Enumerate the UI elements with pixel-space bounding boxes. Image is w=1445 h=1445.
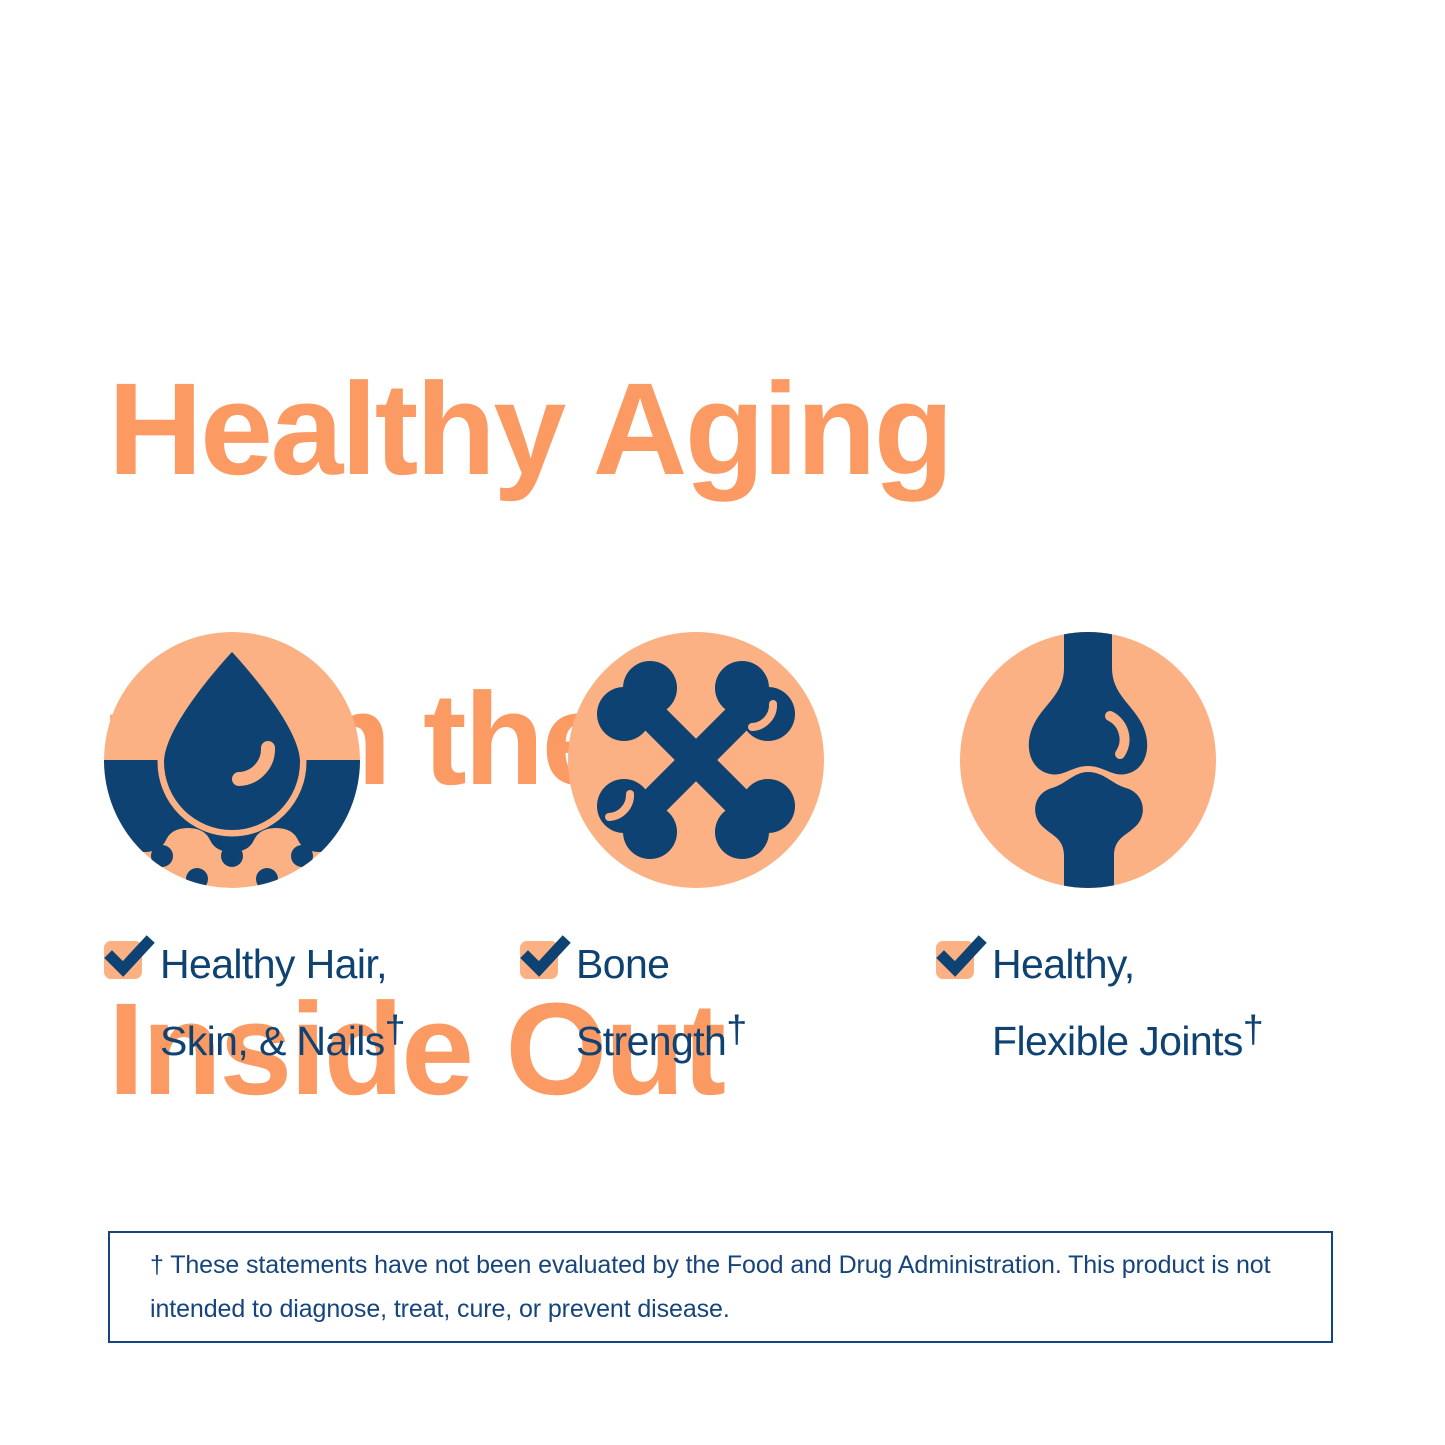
benefit-label-row-bone-strength: BoneStrength† [520,932,936,1074]
dagger-symbol: † [1243,1008,1264,1050]
crossed-bones-icon [568,632,824,888]
benefit-label-line-1: Bone [576,941,669,987]
benefit-column-flexible-joints: Healthy,Flexible Joints† [936,632,1352,1074]
check-icon [523,936,567,980]
check-icon [107,936,151,980]
benefits-row: Healthy Hair,Skin, & Nails† [104,632,1354,1074]
dagger-symbol: † [726,1008,747,1050]
benefit-column-hair-skin-nails: Healthy Hair,Skin, & Nails† [104,632,520,1074]
benefit-label-line-1: Healthy Hair, [160,941,387,987]
benefit-label-row-flexible-joints: Healthy,Flexible Joints† [936,932,1352,1074]
benefit-label-line-2: Strength [576,1018,726,1064]
checkbox-healthy-hair-skin-nails[interactable] [104,941,142,979]
headline-line-1: Healthy Aging [108,351,1208,506]
knee-joint-icon [960,632,1216,888]
benefit-label-hair-skin-nails: Healthy Hair,Skin, & Nails† [160,932,406,1074]
dagger-symbol: † [385,1008,406,1050]
benefit-label-flexible-joints: Healthy,Flexible Joints† [992,932,1264,1074]
disclaimer-text: † These statements have not been evaluat… [110,1243,1331,1331]
benefit-column-bone-strength: BoneStrength† [520,632,936,1074]
benefit-label-line-1: Healthy, [992,941,1135,987]
check-icon [939,936,983,980]
skin-hydration-droplet-icon [104,632,360,888]
disclaimer-box: † These statements have not been evaluat… [108,1231,1333,1343]
healthy-aging-infographic: Healthy Aging from the Inside Out [0,0,1445,1445]
checkbox-healthy-flexible-joints[interactable] [936,941,974,979]
benefit-label-line-2: Flexible Joints [992,1018,1243,1064]
benefit-label-bone-strength: BoneStrength† [576,932,747,1074]
checkbox-bone-strength[interactable] [520,941,558,979]
benefit-label-row-hair-skin-nails: Healthy Hair,Skin, & Nails† [104,932,520,1074]
benefit-label-line-2: Skin, & Nails [160,1018,385,1064]
